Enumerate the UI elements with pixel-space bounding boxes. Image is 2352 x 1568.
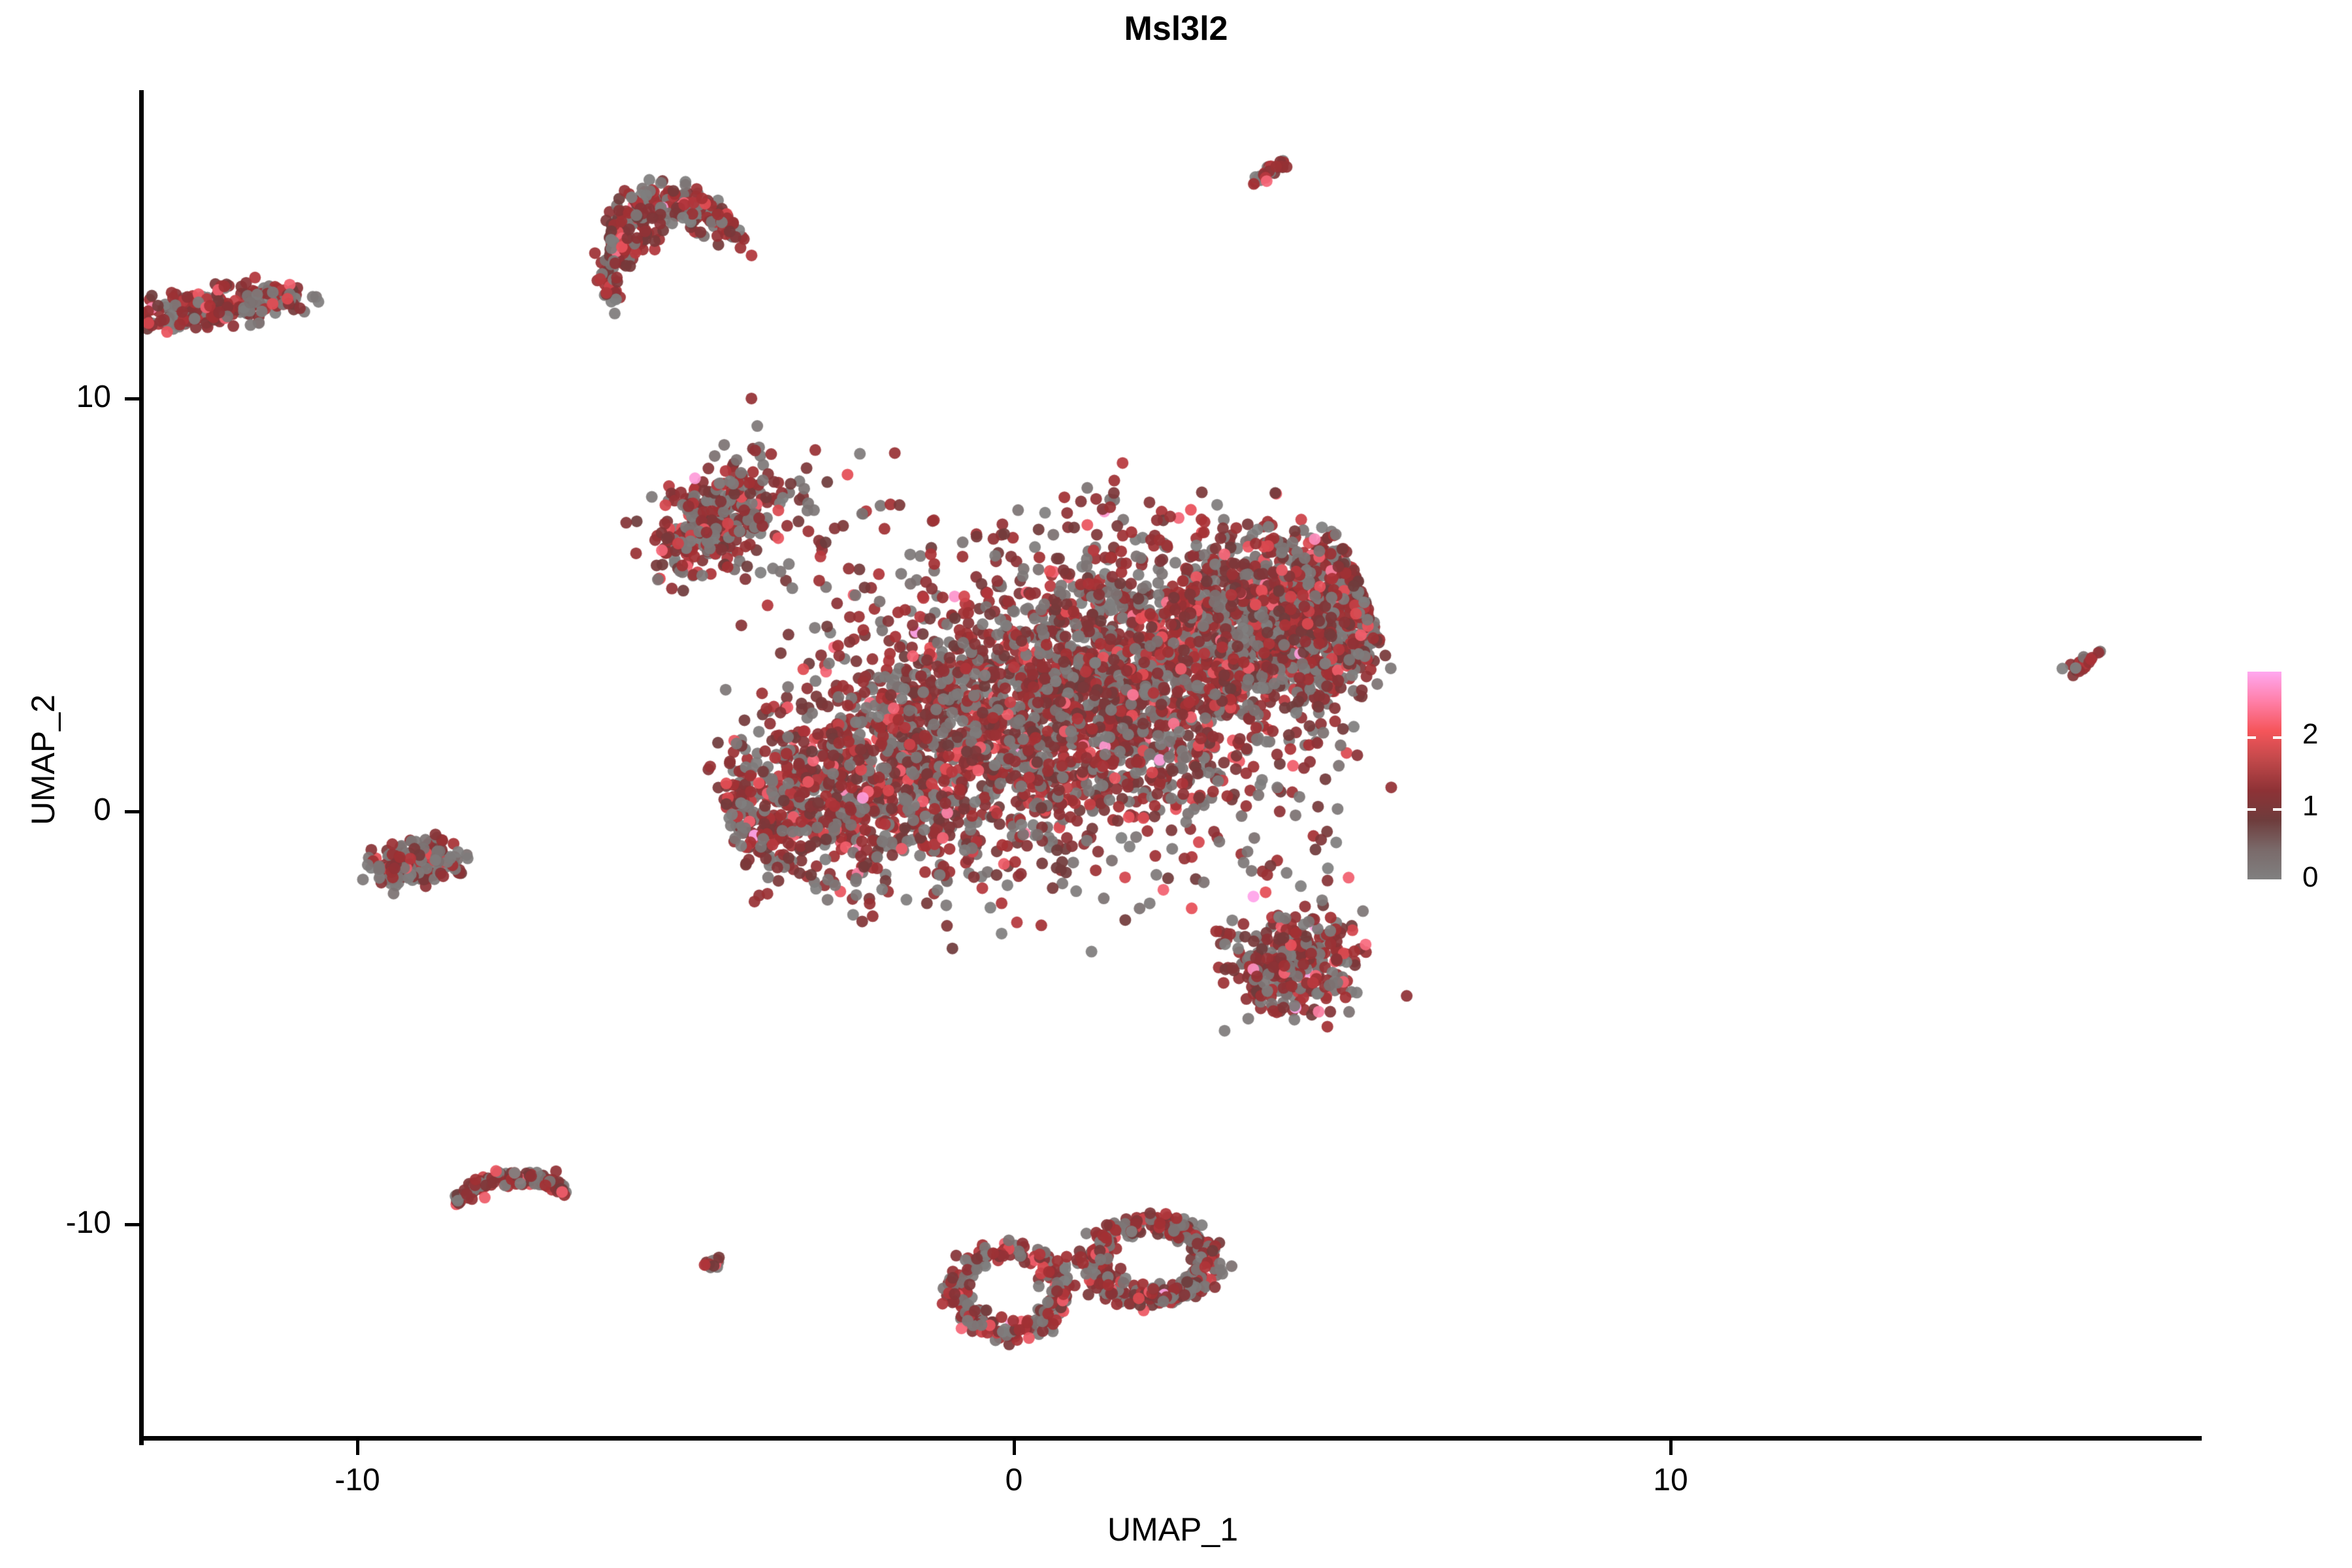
x-tick-label: -10 <box>292 1462 423 1498</box>
colorbar-gradient <box>2247 672 2281 879</box>
y-tick-mark <box>125 810 139 813</box>
x-tick-mark <box>356 1441 359 1455</box>
x-tick-label: 0 <box>949 1462 1079 1498</box>
y-axis-title: UMAP_2 <box>24 400 62 1119</box>
colorbar-tick-mark <box>2247 879 2256 882</box>
colorbar-tick-mark <box>2273 879 2281 882</box>
page-title: Msl3l2 <box>0 9 2352 48</box>
y-tick-mark <box>125 397 139 400</box>
colorbar-tick-label: 1 <box>2302 790 2318 823</box>
x-tick-mark <box>1013 1441 1016 1455</box>
x-tick-mark <box>1669 1441 1673 1455</box>
colorbar-tick-mark <box>2247 808 2256 811</box>
scatter-points-canvas <box>144 90 2202 1441</box>
plot-panel <box>144 90 2202 1441</box>
colorbar-tick-mark <box>2273 736 2281 739</box>
umap-feature-plot: Msl3l2 -10010 100-10 UMAP_1 UMAP_2 210 <box>0 0 2352 1568</box>
colorbar-tick-mark <box>2273 808 2281 811</box>
y-tick-label: -10 <box>0 1205 111 1241</box>
y-axis-line <box>139 90 144 1445</box>
colorbar-tick-mark <box>2247 736 2256 739</box>
x-tick-label: 10 <box>1605 1462 1736 1498</box>
colorbar-tick-label: 2 <box>2302 718 2318 751</box>
y-tick-mark <box>125 1223 139 1226</box>
x-axis-title: UMAP_1 <box>144 1511 2202 1548</box>
colorbar-tick-label: 0 <box>2302 861 2318 894</box>
